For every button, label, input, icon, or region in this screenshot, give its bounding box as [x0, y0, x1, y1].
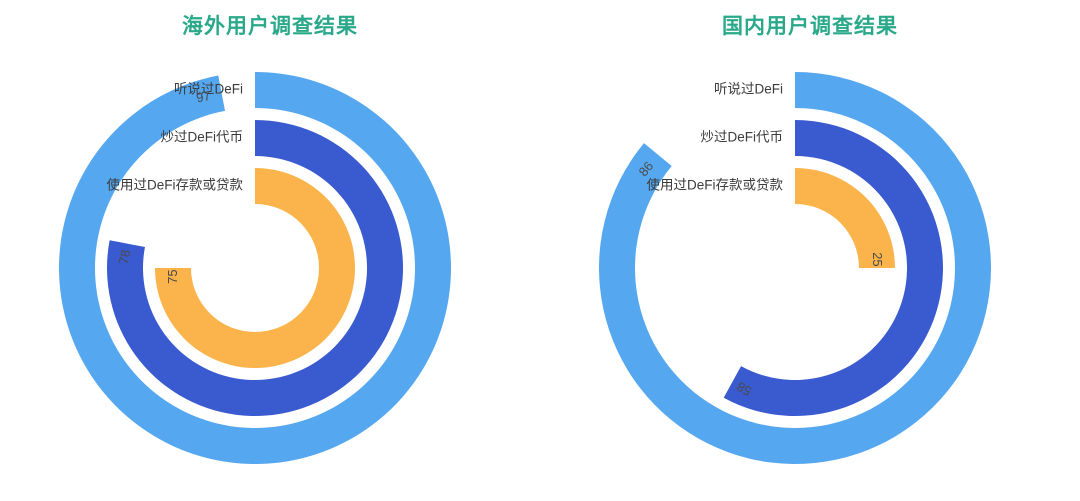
value-label-traded-defi-token: 78: [116, 248, 133, 265]
arc-group-domestic: [599, 72, 991, 464]
category-label-used-defi-lending: 使用过DeFi存款或贷款: [646, 177, 783, 193]
value-label-used-defi-lending: 75: [165, 269, 180, 283]
arc-traded-defi-token[interactable]: [107, 120, 403, 416]
chart-panel-domestic: 国内用户调查结果 听说过DeFi 炒过DeFi代币 使用过DeFi存款或贷款 8…: [540, 0, 1080, 501]
category-label-group-domestic: 听说过DeFi 炒过DeFi代币 使用过DeFi存款或贷款: [646, 82, 783, 193]
category-label-used-defi-lending: 使用过DeFi存款或贷款: [106, 177, 243, 193]
arc-used-defi-lending[interactable]: [155, 168, 355, 368]
value-label-used-defi-lending: 25: [870, 252, 885, 266]
category-label-traded-defi-token: 炒过DeFi代币: [160, 130, 243, 145]
radial-bar-chart-domestic: 听说过DeFi 炒过DeFi代币 使用过DeFi存款或贷款 86 58 25: [540, 0, 1080, 501]
chart-panel-overseas: 海外用户调查结果 听说过DeFi 炒过DeFi代币 使用过DeFi存款或贷款 9…: [0, 0, 540, 501]
category-label-traded-defi-token: 炒过DeFi代币: [700, 130, 783, 145]
category-label-heard-of-defi: 听说过DeFi: [714, 82, 783, 97]
value-label-heard-of-defi: 97: [195, 88, 212, 105]
radial-bar-chart-overseas: 听说过DeFi 炒过DeFi代币 使用过DeFi存款或贷款 97 78 75: [0, 0, 540, 501]
arc-group-overseas: [59, 72, 451, 464]
arc-traded-defi-token[interactable]: [724, 120, 943, 416]
dual-radial-chart-board: 海外用户调查结果 听说过DeFi 炒过DeFi代币 使用过DeFi存款或贷款 9…: [0, 0, 1080, 501]
